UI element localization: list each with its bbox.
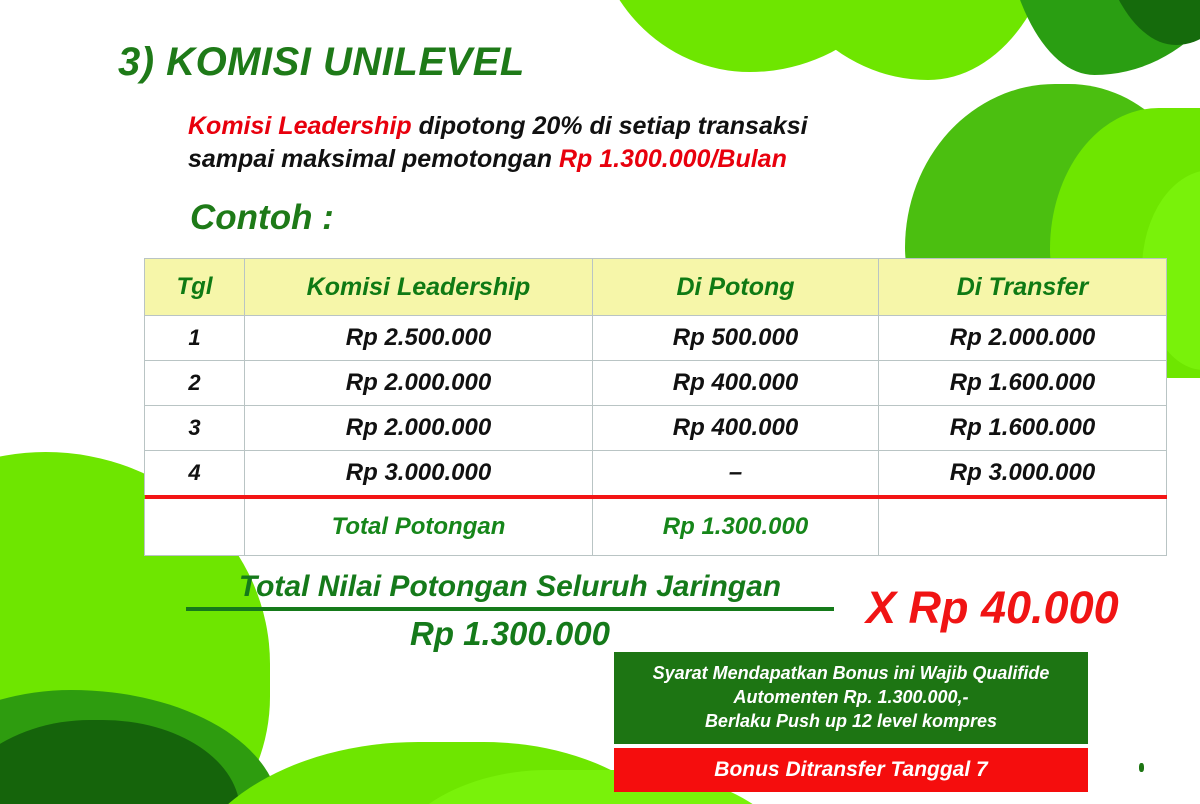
table-header: Tgl Komisi Leadership Di Potong Di Trans… — [145, 259, 1167, 316]
table-header-di-potong: Di Potong — [593, 259, 879, 316]
table-total-row: Total Potongan Rp 1.300.000 — [145, 499, 1167, 556]
subtitle-line-2-prefix: sampai maksimal pemotongan — [188, 145, 559, 173]
example-table: Tgl Komisi Leadership Di Potong Di Trans… — [144, 258, 1167, 556]
cell-komisi: Rp 2.000.000 — [245, 406, 593, 451]
formula-numerator: Total Nilai Potongan Seluruh Jaringan — [180, 570, 840, 603]
decor-speck — [1139, 763, 1144, 772]
total-potong-value: Rp 1.300.000 — [593, 499, 879, 556]
cell-komisi: Rp 3.000.000 — [245, 451, 593, 496]
table-header-row: Tgl Komisi Leadership Di Potong Di Trans… — [145, 259, 1167, 316]
subtitle-line-1: Komisi Leadership dipotong 20% di setiap… — [188, 110, 808, 143]
decor-green-shape-top-right-2 — [760, 0, 1060, 80]
table-body: 1 Rp 2.500.000 Rp 500.000 Rp 2.000.000 2… — [145, 316, 1167, 556]
cell-transfer: Rp 1.600.000 — [879, 361, 1167, 406]
requirement-note-box: Syarat Mendapatkan Bonus ini Wajib Quali… — [614, 652, 1088, 744]
cell-tgl: 2 — [145, 361, 245, 406]
decor-green-shape-top-right-3 — [1000, 0, 1200, 75]
decor-green-shape-top-right-4 — [1090, 0, 1200, 45]
bonus-transfer-bar: Bonus Ditransfer Tanggal 7 — [614, 748, 1088, 792]
cell-potong: Rp 400.000 — [593, 406, 879, 451]
cell-tgl: 3 — [145, 406, 245, 451]
note-line-3: Berlaku Push up 12 level kompres — [705, 710, 997, 734]
table-row: 4 Rp 3.000.000 – Rp 3.000.000 — [145, 451, 1167, 496]
page-title: 3) KOMISI UNILEVEL — [118, 40, 525, 85]
subtitle-block: Komisi Leadership dipotong 20% di setiap… — [188, 110, 808, 176]
decor-green-shape-bottom-left-2 — [0, 690, 280, 804]
decor-green-shape-bottom-left-3 — [0, 720, 240, 804]
subtitle-line-2: sampai maksimal pemotongan Rp 1.300.000/… — [188, 143, 808, 176]
total-label: Total Potongan — [245, 499, 593, 556]
formula-denominator: Rp 1.300.000 — [180, 615, 840, 653]
cell-komisi: Rp 2.000.000 — [245, 361, 593, 406]
formula-multiplier: X Rp 40.000 — [866, 582, 1119, 634]
total-cell-tgl — [145, 499, 245, 556]
total-cell-transfer — [879, 499, 1167, 556]
cell-potong: Rp 500.000 — [593, 316, 879, 361]
note-line-1: Syarat Mendapatkan Bonus ini Wajib Quali… — [653, 662, 1050, 686]
cell-transfer: Rp 1.600.000 — [879, 406, 1167, 451]
subtitle-line-1-rest: dipotong 20% di setiap transaksi — [412, 112, 808, 140]
table-header-tgl: Tgl — [145, 259, 245, 316]
example-heading: Contoh : — [190, 198, 334, 238]
cell-potong: – — [593, 451, 879, 496]
formula-divider-line — [186, 607, 834, 611]
cell-potong: Rp 400.000 — [593, 361, 879, 406]
table-row: 2 Rp 2.000.000 Rp 400.000 Rp 1.600.000 — [145, 361, 1167, 406]
example-table-wrapper: Tgl Komisi Leadership Di Potong Di Trans… — [144, 258, 1166, 556]
cell-tgl: 1 — [145, 316, 245, 361]
cell-tgl: 4 — [145, 451, 245, 496]
table-row: 1 Rp 2.500.000 Rp 500.000 Rp 2.000.000 — [145, 316, 1167, 361]
bonus-transfer-text: Bonus Ditransfer Tanggal 7 — [714, 758, 987, 782]
note-line-2: Automenten Rp. 1.300.000,- — [733, 686, 968, 710]
slide-canvas: 3) KOMISI UNILEVEL Komisi Leadership dip… — [0, 0, 1200, 804]
cell-transfer: Rp 3.000.000 — [879, 451, 1167, 496]
table-header-di-transfer: Di Transfer — [879, 259, 1167, 316]
decor-green-shape-top-right-1 — [592, 0, 922, 72]
table-row: 3 Rp 2.000.000 Rp 400.000 Rp 1.600.000 — [145, 406, 1167, 451]
subtitle-highlight-max-amount: Rp 1.300.000/Bulan — [559, 145, 787, 173]
cell-transfer: Rp 2.000.000 — [879, 316, 1167, 361]
table-header-komisi-leadership: Komisi Leadership — [245, 259, 593, 316]
formula-fraction: Total Nilai Potongan Seluruh Jaringan Rp… — [180, 570, 840, 653]
cell-komisi: Rp 2.500.000 — [245, 316, 593, 361]
subtitle-highlight-komisi-leadership: Komisi Leadership — [188, 112, 412, 140]
